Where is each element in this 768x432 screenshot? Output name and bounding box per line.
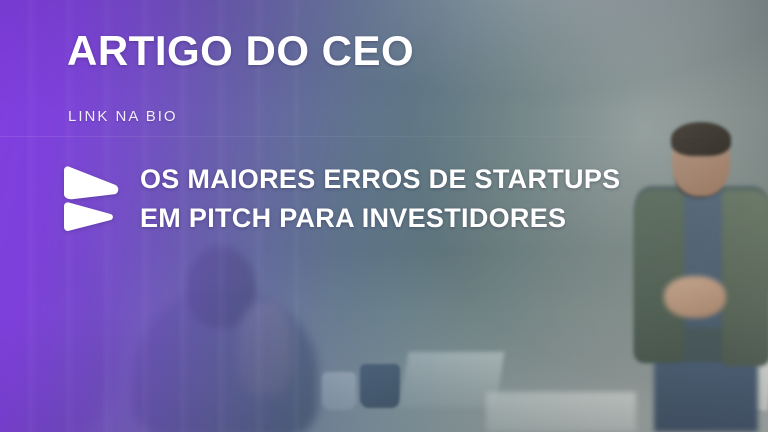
headline: OS MAIORES ERROS DE STARTUPS EM PITCH PA… <box>140 160 620 238</box>
chevron-arrow-logo-icon <box>60 166 122 232</box>
promo-card: ARTIGO DO CEO LINK NA BIO OS MAIORES ERR… <box>0 0 768 432</box>
content-layer: ARTIGO DO CEO LINK NA BIO OS MAIORES ERR… <box>0 0 768 432</box>
page-title: ARTIGO DO CEO <box>67 30 414 72</box>
headline-block: OS MAIORES ERROS DE STARTUPS EM PITCH PA… <box>60 160 620 238</box>
kicker-text: LINK NA BIO <box>68 109 178 124</box>
headline-line-2: EM PITCH PARA INVESTIDORES <box>140 199 620 238</box>
headline-line-1: OS MAIORES ERROS DE STARTUPS <box>140 164 620 194</box>
